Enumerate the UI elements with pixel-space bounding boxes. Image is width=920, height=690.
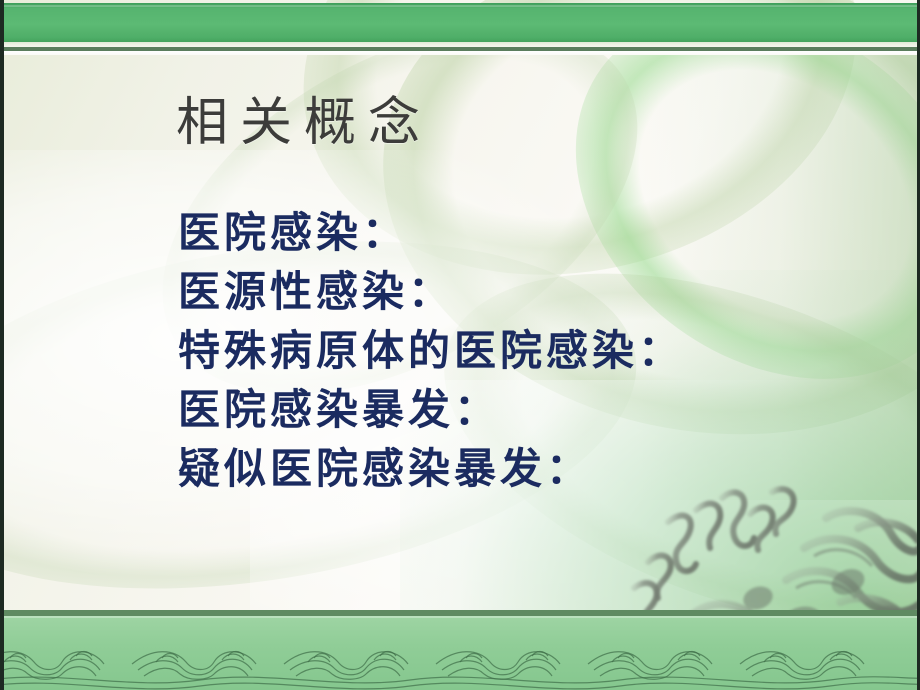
top-band-highlight-decoration (0, 5, 920, 7)
body-line-1: 医院感染： (178, 203, 878, 262)
body-line-5: 疑似医院感染暴发： (178, 439, 878, 498)
presentation-slide: 相关概念 医院感染： 医源性感染： 特殊病原体的医院感染： 医院感染暴发： 疑似… (0, 0, 920, 690)
left-edge-strip-decoration (0, 0, 4, 690)
top-green-band-decoration (0, 3, 920, 42)
body-line-4: 医院感染暴发： (178, 380, 878, 439)
top-fade-rule-decoration (0, 51, 920, 55)
wave-pattern-decoration (0, 618, 920, 690)
slide-body: 医院感染： 医源性感染： 特殊病原体的医院感染： 医院感染暴发： 疑似医院感染暴… (178, 203, 878, 498)
body-line-2: 医源性感染： (178, 262, 878, 321)
body-line-3: 特殊病原体的医院感染： (178, 321, 878, 380)
slide-title: 相关概念 (176, 92, 432, 154)
